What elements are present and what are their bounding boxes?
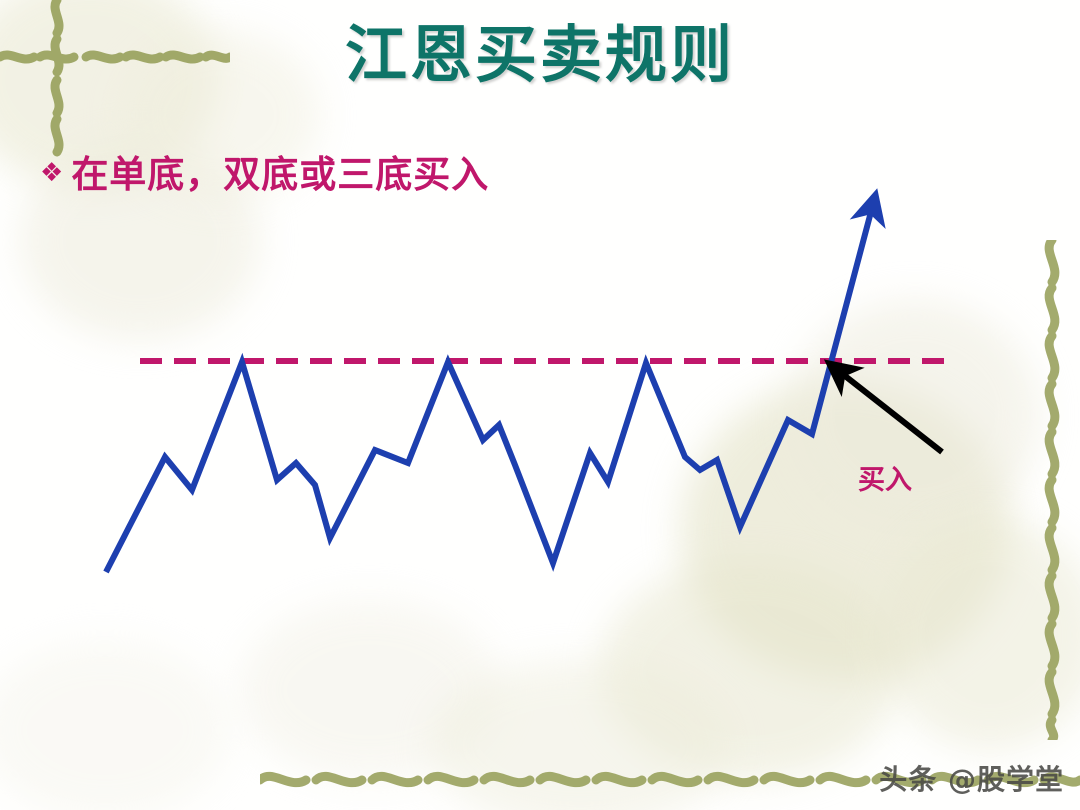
- price-chart: [0, 0, 1080, 810]
- buy-annotation-arrow: [840, 372, 942, 452]
- source-watermark: 头条 @股学堂: [879, 758, 1064, 798]
- price-zigzag-line: [106, 208, 872, 572]
- slide-canvas: 江恩买卖规则 ❖ 在单底，双底或三底买入 买入 头条 @股学堂: [0, 0, 1080, 810]
- buy-annotation-label: 买入: [858, 458, 912, 497]
